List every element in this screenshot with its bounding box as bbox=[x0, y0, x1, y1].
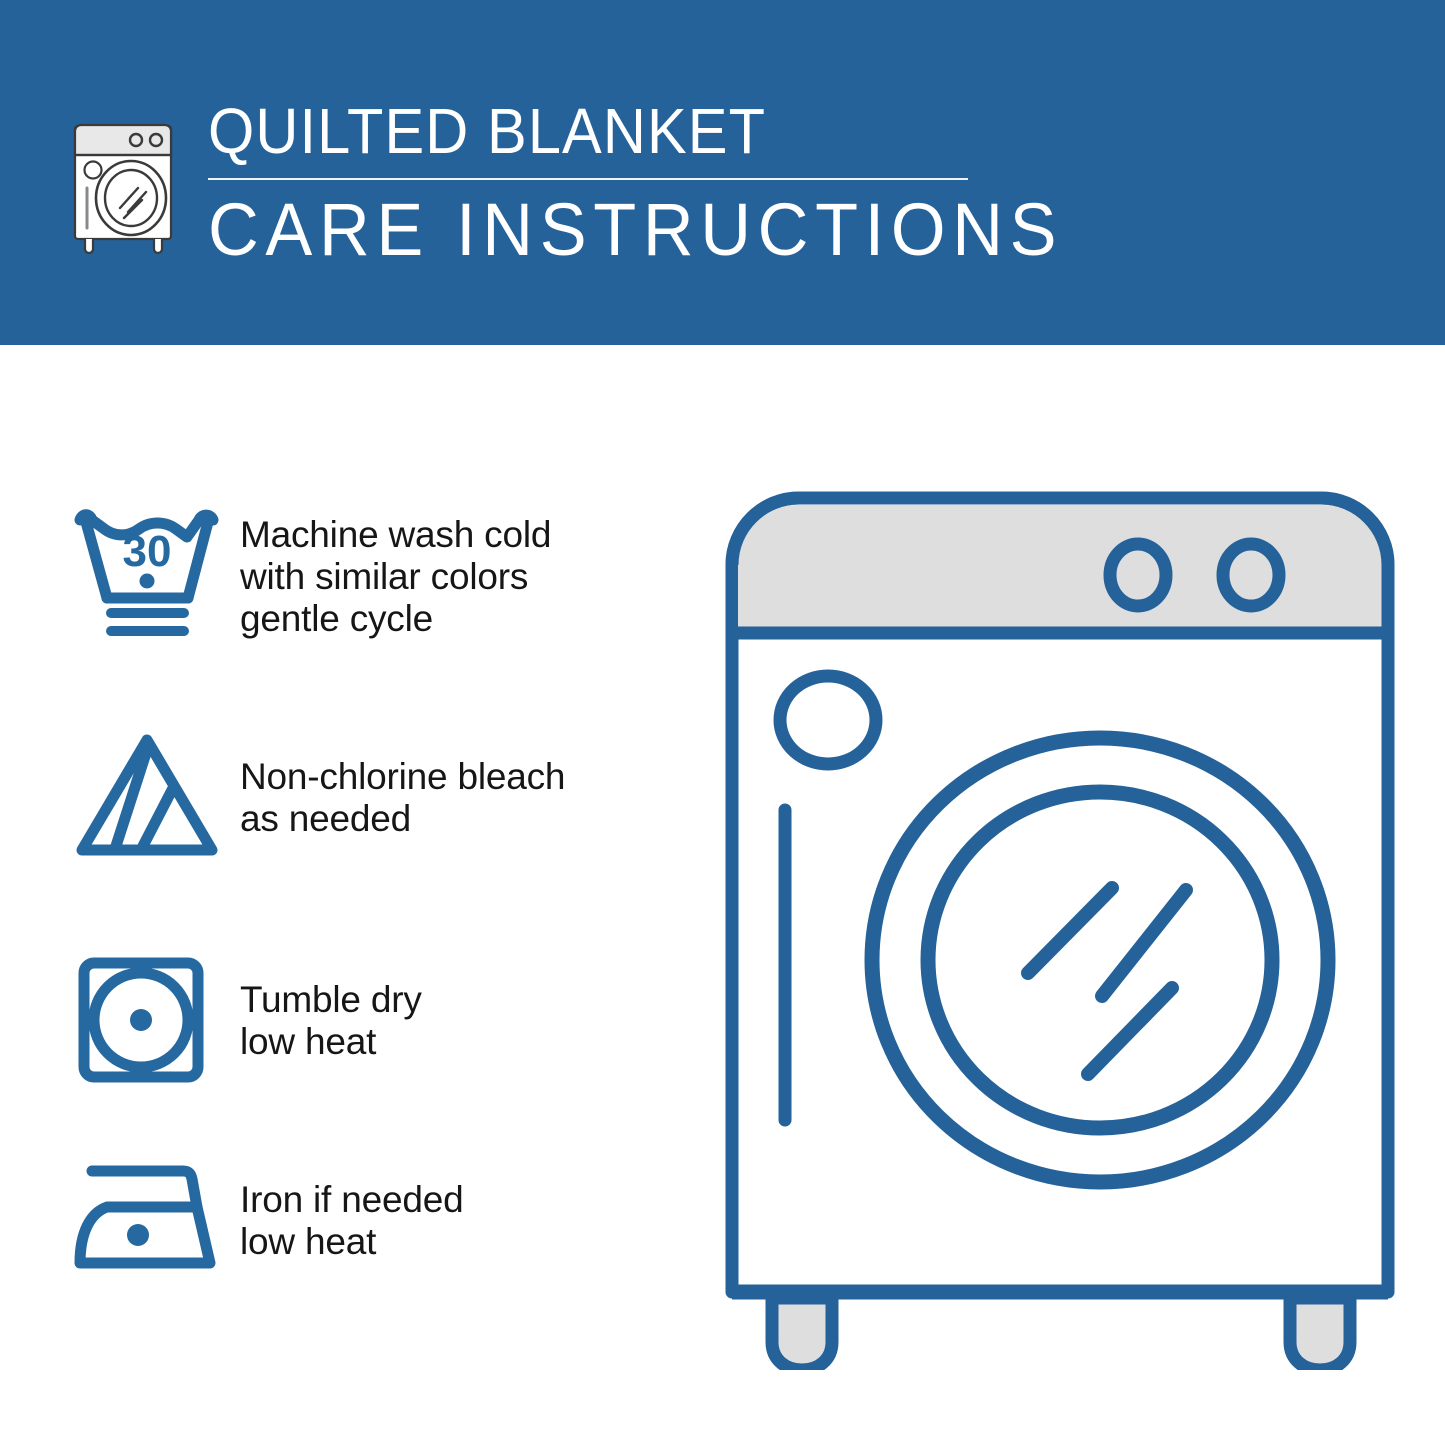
title-divider bbox=[208, 178, 968, 180]
front-load-washing-machine-illustration bbox=[710, 470, 1410, 1370]
tumble-dry-low-heat-icon bbox=[70, 949, 225, 1089]
leg-left bbox=[772, 1298, 832, 1370]
control-panel bbox=[738, 505, 1382, 633]
care-item-label: Iron if needed low heat bbox=[240, 1141, 690, 1263]
care-item-label: Non-chlorine bleach as needed bbox=[240, 714, 690, 840]
page-title-secondary: CARE INSTRUCTIONS bbox=[208, 190, 1063, 270]
care-item-label: Machine wash cold with similar colors ge… bbox=[240, 492, 690, 640]
care-item: 30 Machine wash cold with similar colors… bbox=[70, 492, 690, 714]
care-symbol-wrapper bbox=[70, 939, 240, 1089]
care-symbol-wrapper bbox=[70, 1141, 240, 1280]
care-symbol-wrapper bbox=[70, 714, 240, 863]
care-item-label: Tumble dry low heat bbox=[240, 939, 690, 1063]
wash-temperature-label: 30 bbox=[123, 527, 172, 576]
care-symbol-wrapper: 30 bbox=[70, 492, 240, 644]
care-item: Iron if needed low heat bbox=[70, 1141, 690, 1321]
wash-basin-30-gentle-icon: 30 bbox=[70, 504, 225, 644]
header-content: QUILTED BLANKET CARE INSTRUCTIONS bbox=[68, 96, 1108, 270]
leg-right bbox=[1290, 1298, 1350, 1370]
iron-low-heat-icon bbox=[70, 1155, 225, 1280]
care-item: Non-chlorine bleach as needed bbox=[70, 714, 690, 939]
care-instructions-list: 30 Machine wash cold with similar colors… bbox=[70, 492, 690, 1321]
page-title-primary: QUILTED BLANKET bbox=[208, 96, 766, 166]
washing-machine-icon bbox=[68, 104, 186, 256]
triangle-non-chlorine-bleach-icon bbox=[70, 728, 225, 863]
care-item: Tumble dry low heat bbox=[70, 939, 690, 1141]
title-block: QUILTED BLANKET CARE INSTRUCTIONS bbox=[208, 96, 1108, 270]
header-banner: QUILTED BLANKET CARE INSTRUCTIONS bbox=[0, 0, 1445, 345]
